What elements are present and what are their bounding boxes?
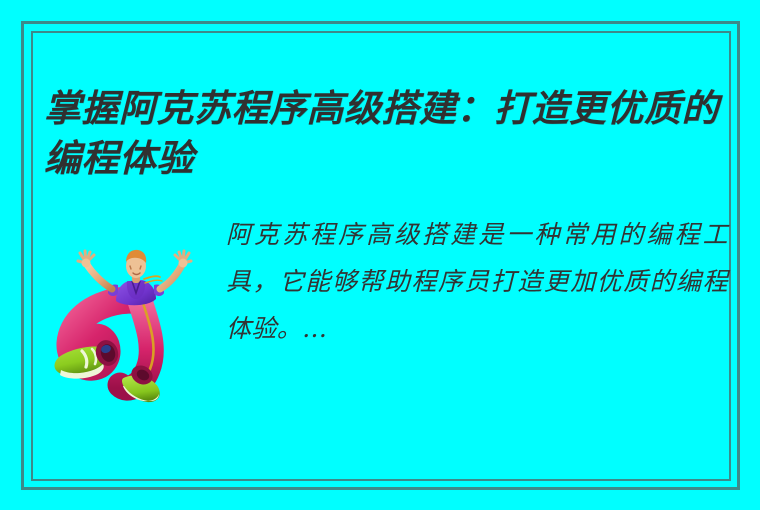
illustration-strap [144,276,160,279]
body-paragraph: 阿克苏程序高级搭建是一种常用的编程工具，它能够帮助程序员打造更加优质的编程体验。… [226,211,728,352]
illustration-right-arm [160,263,183,289]
illustration-torso [116,280,156,305]
poster-canvas: 掌握阿克苏程序高级搭建：打造更优质的编程体验 阿克苏程序高级搭建是一种常用的编程… [0,0,760,510]
illustration-head [126,250,146,278]
page-title: 掌握阿克苏程序高级搭建：打造更优质的编程体验 [44,83,734,183]
illustration-left-arm [86,263,112,289]
jumping-person-illustration [44,243,209,405]
